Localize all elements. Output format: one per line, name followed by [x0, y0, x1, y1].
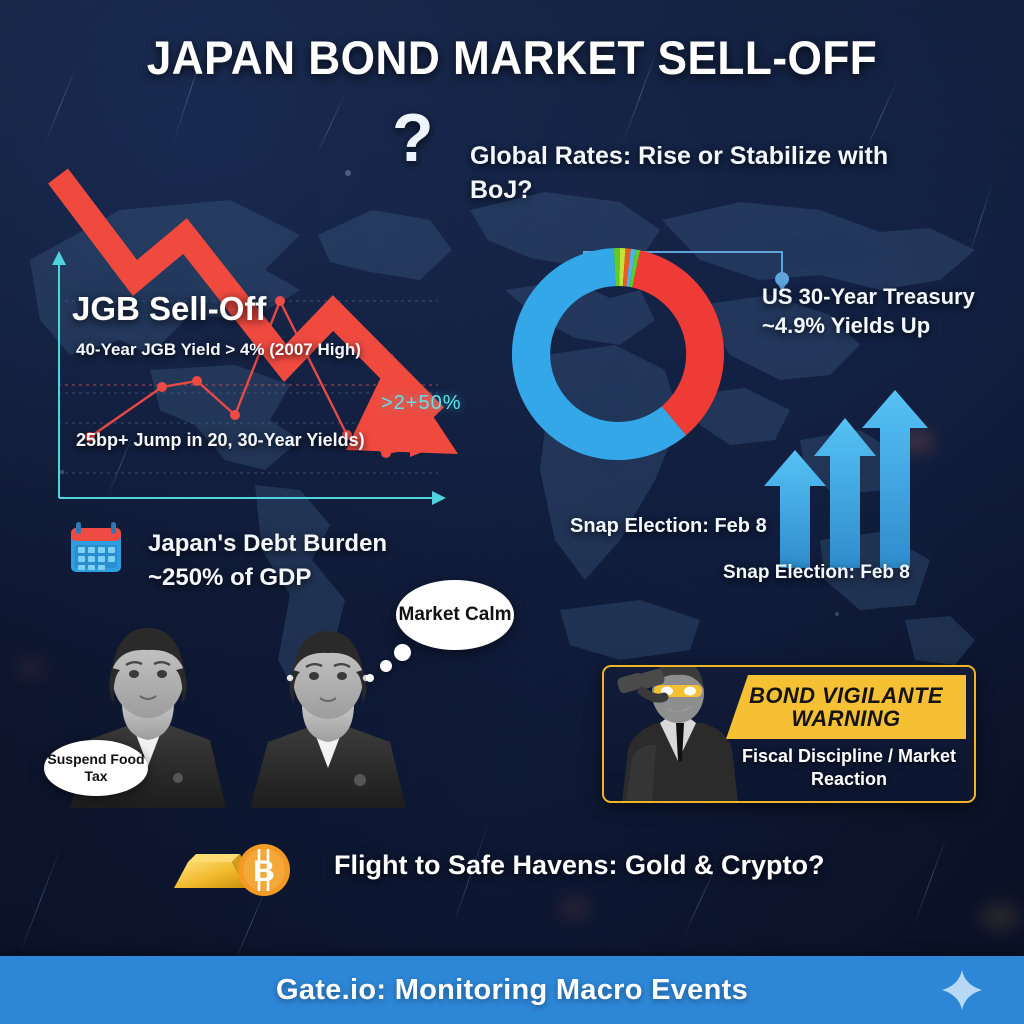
bubble-tail-dot: [366, 674, 374, 682]
suspend-food-tax-bubble: Suspend Food Tax: [44, 740, 148, 796]
jgb-yield-note: 40-Year JGB Yield > 4% (2007 High): [76, 340, 361, 360]
market-calm-bubble: Market Calm: [396, 580, 514, 650]
vigilante-banner-line2: WARNING: [791, 707, 900, 730]
question-mark-icon: ?: [392, 104, 434, 172]
footer-text: Gate.io: Monitoring Macro Events: [0, 956, 1024, 1024]
calendar-icon: [65, 518, 127, 578]
debt-burden-note: Japan's Debt Burden ~250% of GDP: [148, 527, 448, 595]
infographic-canvas: JAPAN BOND MARKET SELL-OFF ? Global Rate…: [0, 0, 1024, 1024]
bubble-tail-dot: [380, 660, 392, 672]
vigilante-banner: BOND VIGILANTE WARNING: [726, 675, 966, 739]
snap-election-label-right: Snap Election: Feb 8: [723, 562, 910, 584]
us-treasury-note: US 30-Year Treasury ~4.9% Yields Up: [762, 282, 1012, 340]
global-rates-headline: Global Rates: Rise or Stabilize with BoJ…: [470, 140, 890, 207]
percent-change-badge: >2+50%: [381, 392, 462, 415]
safe-havens-note: Flight to Safe Havens: Gold & Crypto?: [334, 850, 825, 881]
page-title: JAPAN BOND MARKET SELL-OFF: [31, 30, 994, 85]
vigilante-subtitle: Fiscal Discipline / Market Reaction: [730, 745, 968, 791]
rising-yields-arrows-icon: [758, 388, 928, 568]
sparkle-icon: [942, 970, 982, 1010]
bond-vigilante-warning-card: BOND VIGILANTE WARNING Fiscal Discipline…: [602, 665, 976, 803]
global-rates-donut-chart: [512, 248, 724, 460]
bubble-tail-dot: [394, 644, 411, 661]
jgb-bp-jump-note: 25bp+ Jump in 20, 30-Year Yields): [76, 430, 365, 451]
jgb-selloff-title: JGB Sell-Off: [72, 290, 266, 328]
snap-election-label-left: Snap Election: Feb 8: [570, 513, 790, 539]
svg-text:B: B: [253, 855, 275, 888]
footer-bar: Gate.io: Monitoring Macro Events: [0, 956, 1024, 1024]
gold-bar-and-bitcoin-icon: B: [170, 838, 290, 900]
vigilante-banner-line1: BOND VIGILANTE: [749, 684, 943, 707]
